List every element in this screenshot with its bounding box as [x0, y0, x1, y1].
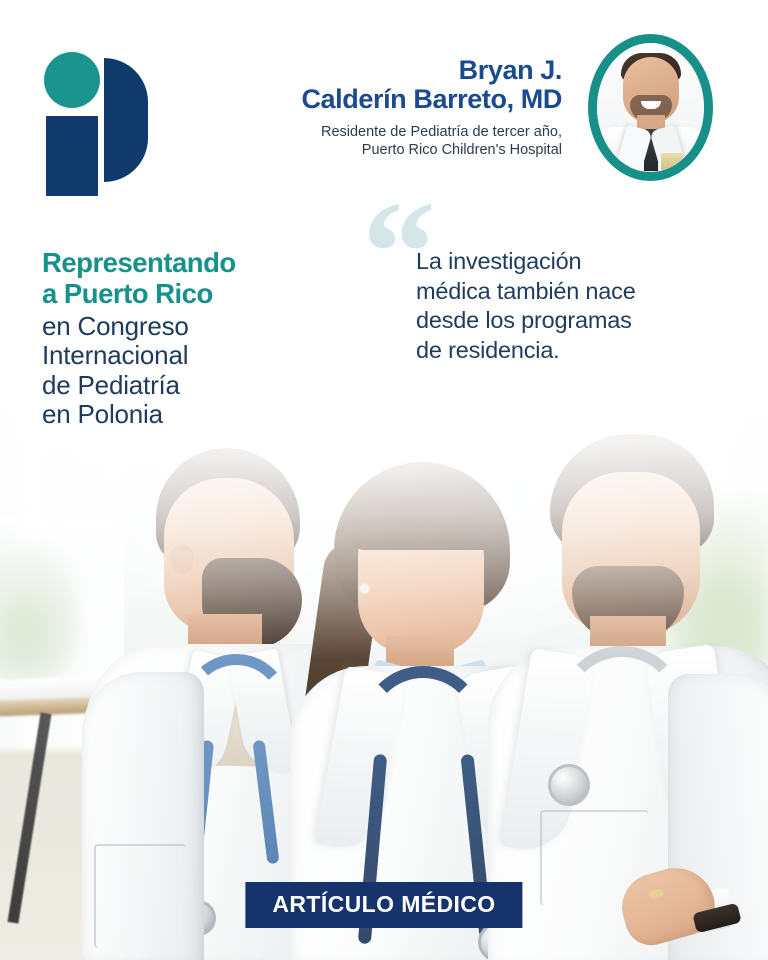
headline-teal-line-1: Representando — [42, 248, 362, 279]
logo-rectangle-icon — [46, 116, 98, 196]
headline-navy-line-2: Internacional — [42, 341, 362, 371]
speaker-name-line-1: Bryan J. — [216, 56, 562, 85]
avatar-crossed-arms — [597, 171, 704, 172]
doctor-center-earring — [360, 584, 369, 593]
brand-logo[interactable] — [42, 52, 146, 172]
speaker-role-line-1: Residente de Pediatría de tercer año, — [216, 123, 562, 142]
logo-half-circle-icon — [104, 58, 148, 182]
avatar-photo — [597, 43, 704, 172]
avatar-id-badge — [661, 153, 683, 170]
doctor-left-pocket — [94, 844, 186, 948]
logo-circle-icon — [44, 52, 100, 108]
headline-teal-line-2: a Puerto Rico — [42, 279, 362, 310]
status-badge-label: ARTÍCULO MÉDICO — [272, 893, 495, 916]
headline: Representando a Puerto Rico en Congreso … — [42, 248, 362, 430]
speaker-name-line-2: Calderín Barreto, MD — [216, 85, 562, 114]
quote-text: La investigación médica también nace des… — [416, 247, 662, 365]
headline-navy-line-1: en Congreso — [42, 312, 362, 342]
stethoscope-chestpiece — [548, 764, 590, 806]
status-badge: ARTÍCULO MÉDICO — [245, 882, 522, 928]
doctor-center-bangs — [350, 484, 502, 550]
speaker-role-line-2: Puerto Rico Children's Hospital — [216, 141, 562, 160]
header: Bryan J. Calderín Barreto, MD Residente … — [0, 0, 768, 200]
headline-navy-line-3: de Pediatría — [42, 371, 362, 401]
speaker-info: Bryan J. Calderín Barreto, MD Residente … — [216, 56, 562, 160]
doctor-right — [498, 438, 768, 960]
foliage-left — [0, 540, 80, 690]
poster: Bryan J. Calderín Barreto, MD Residente … — [0, 0, 768, 960]
headline-navy-line-4: en Polonia — [42, 400, 362, 430]
doctor-left-ear — [170, 544, 194, 574]
speaker-avatar — [588, 34, 713, 181]
